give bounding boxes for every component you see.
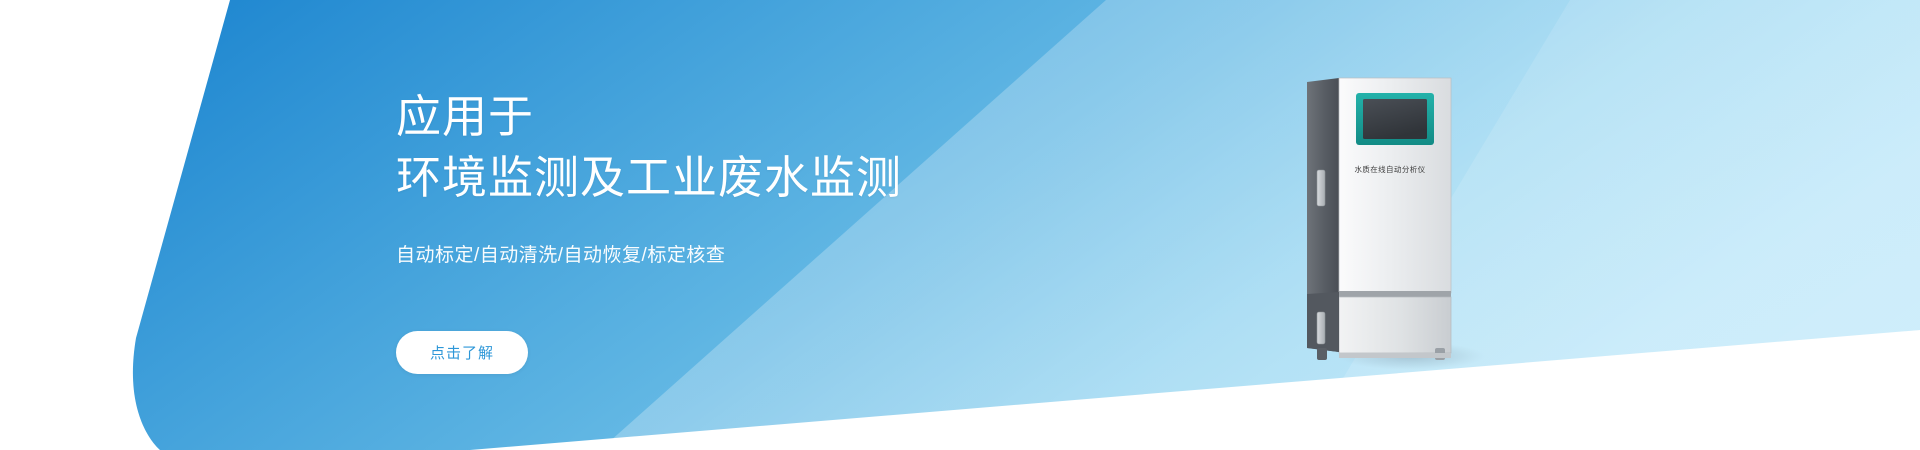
hero-banner: 应用于 环境监测及工业废水监测 自动标定/自动清洗/自动恢复/标定核查 点击了解 bbox=[0, 0, 1920, 450]
headline-line-2: 环境监测及工业废水监测 bbox=[396, 147, 1096, 208]
device-lower-compartment bbox=[1339, 297, 1451, 353]
device-handle-upper bbox=[1317, 170, 1325, 206]
device-screen bbox=[1363, 99, 1427, 139]
device-foot-left bbox=[1317, 348, 1327, 360]
banner-subtitle: 自动标定/自动清洗/自动恢复/标定核查 bbox=[396, 242, 1096, 270]
page-title: 应用于 环境监测及工业废水监测 bbox=[396, 86, 1096, 208]
headline-line-1: 应用于 bbox=[396, 91, 534, 142]
learn-more-button[interactable]: 点击了解 bbox=[396, 331, 528, 374]
banner-content: 应用于 环境监测及工业废水监测 自动标定/自动清洗/自动恢复/标定核查 点击了解 bbox=[396, 56, 1096, 374]
product-image: 水质在线自动分析仪 bbox=[1303, 76, 1463, 368]
analyzer-cabinet-svg bbox=[1303, 76, 1463, 368]
device-handle-lower bbox=[1317, 312, 1325, 344]
device-base-rail bbox=[1339, 353, 1451, 358]
device-divider bbox=[1339, 291, 1451, 297]
